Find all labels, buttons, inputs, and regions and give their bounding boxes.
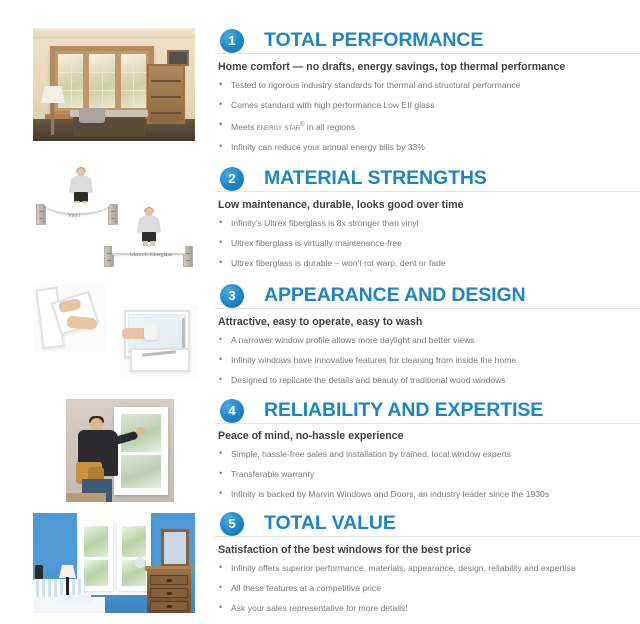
bullet-item: Infinity offers superior performance, ma… <box>215 563 640 574</box>
section-1-header: 1 TOTAL PERFORMANCE <box>215 26 640 60</box>
section-material-strengths: 2 MATERIAL STRENGTHS Low maintenance, du… <box>215 164 640 278</box>
section-1-bullet-list: Tested to rigorous industry standards fo… <box>215 80 640 153</box>
bullet-tail: in all regions <box>305 122 356 132</box>
floor-edge <box>66 493 106 502</box>
section-number-badge-1: 1 <box>220 29 244 53</box>
beam-label-vinyl: Vinyl <box>68 214 80 219</box>
wood-dresser <box>147 569 191 613</box>
section-number-badge-3: 3 <box>220 284 244 308</box>
room-ceiling <box>33 28 195 39</box>
installer-photo <box>66 399 174 502</box>
section-divider-1 <box>215 53 640 54</box>
content-column: 1 TOTAL PERFORMANCE Home comfort — no dr… <box>215 0 640 624</box>
decorative-vase <box>135 557 145 568</box>
wall-picture-frame <box>167 50 189 66</box>
beam-support-right <box>108 204 118 225</box>
energy-star-mark: ENERGY STAR <box>257 122 300 132</box>
bullet-item: Infinity is backed by Marvin Windows and… <box>215 489 640 500</box>
section-total-value: 5 TOTAL VALUE Satisfaction of the best w… <box>215 509 640 623</box>
bullet-item-energy-star: Meets ENERGY STAR® in all regions <box>215 120 640 133</box>
section-divider-2 <box>215 191 640 192</box>
bullet-lead: Meets <box>231 122 257 132</box>
bullet-item: Ultrex fiberglass is virtually maintenan… <box>215 238 640 249</box>
installer-hand <box>136 427 145 435</box>
section-divider-4 <box>215 423 640 424</box>
blue-bedroom-photo <box>33 513 195 613</box>
bullet-item: Designed to replicate the details and be… <box>215 375 640 386</box>
section-subtitle-1: Home comfort — no drafts, energy savings… <box>218 60 640 74</box>
section-title-2: MATERIAL STRENGTHS <box>264 164 487 192</box>
section-divider-5 <box>215 536 640 537</box>
section-appearance-and-design: 3 APPEARANCE AND DESIGN Attractive, easy… <box>215 281 640 395</box>
section-number-badge-5: 5 <box>220 512 244 536</box>
beam-label-ultrex: Ultrex® Fiberglass <box>130 253 172 258</box>
section-5-header: 5 TOTAL VALUE <box>215 509 640 543</box>
section-4-header: 4 RELIABILITY AND EXPERTISE <box>215 396 640 430</box>
section-number-badge-2: 2 <box>220 167 244 191</box>
nightstand <box>57 595 91 605</box>
table-lamp-base <box>66 577 69 597</box>
window-tilt-photo <box>33 284 105 352</box>
bullet-item: Comes standard with high performance Low… <box>215 100 640 111</box>
bullet-item: Infinity's Ultrex fiberglass is 8x stron… <box>215 218 640 229</box>
bullet-item: Transferable warranty <box>215 469 640 480</box>
section-subtitle-2: Low maintenance, durable, looks good ove… <box>218 198 640 212</box>
bullet-item: Simple, hassle-free sales and installati… <box>215 449 640 460</box>
section-subtitle-4: Peace of mind, no-hassle experience <box>218 429 640 443</box>
section-5-bullet-list: Infinity offers superior performance, ma… <box>215 563 640 614</box>
bullet-item: A narrower window profile allows more da… <box>215 335 640 346</box>
beam-strength-diagram: Vinyl Ultrex® Fiberglass <box>28 162 203 274</box>
lower-sash-glass <box>121 455 161 488</box>
image-column: Vinyl Ultrex® Fiberglass <box>0 0 215 624</box>
section-title-5: TOTAL VALUE <box>264 509 396 537</box>
brochure-page: Vinyl Ultrex® Fiberglass <box>0 0 640 624</box>
shelving-unit <box>147 64 185 124</box>
picture-window-frame <box>50 46 154 116</box>
window-pane-right <box>118 51 149 111</box>
bullet-item: Ask your sales representative for more d… <box>215 603 640 614</box>
section-2-bullet-list: Infinity's Ultrex fiberglass is 8x stron… <box>215 218 640 269</box>
section-number-badge-4: 4 <box>220 399 244 423</box>
living-room-window-photo <box>33 28 195 141</box>
section-title-4: RELIABILITY AND EXPERTISE <box>264 396 543 424</box>
section-total-performance: 1 TOTAL PERFORMANCE Home comfort — no dr… <box>215 26 640 162</box>
hinge-track <box>182 318 185 348</box>
section-subtitle-5: Satisfaction of the best windows for the… <box>218 543 640 557</box>
window-cleaning-photo <box>120 306 198 378</box>
bullet-item: Infinity can reduce your annual energy b… <box>215 142 640 153</box>
cleaning-cloth <box>144 324 158 340</box>
section-4-bullet-list: Simple, hassle-free sales and installati… <box>215 449 640 500</box>
dresser-mirror <box>161 529 189 567</box>
floor-lamp-shade <box>41 86 65 103</box>
double-hung-window <box>114 407 168 495</box>
bullet-item: Ultrex fiberglass is durable – won't rot… <box>215 258 640 269</box>
section-title-3: APPEARANCE AND DESIGN <box>264 281 526 309</box>
floor-lamp-stand <box>51 103 54 135</box>
window-pane-center <box>86 51 118 111</box>
bullet-item: Infinity windows have innovative feature… <box>215 355 640 366</box>
bullet-item: Tested to rigorous industry standards fo… <box>215 80 640 91</box>
section-3-header: 3 APPEARANCE AND DESIGN <box>215 281 640 315</box>
bullet-item: All these features at a competitive pric… <box>215 583 640 594</box>
section-subtitle-3: Attractive, easy to operate, easy to was… <box>218 315 640 329</box>
bench <box>73 114 145 136</box>
corner-window-right <box>117 521 151 591</box>
beam-support-left <box>36 204 46 225</box>
section-3-bullet-list: A narrower window profile allows more da… <box>215 335 640 386</box>
section-reliability-and-expertise: 4 RELIABILITY AND EXPERTISE Peace of min… <box>215 396 640 509</box>
section-2-header: 2 MATERIAL STRENGTHS <box>215 164 640 198</box>
section-divider-3 <box>215 308 640 309</box>
section-title-1: TOTAL PERFORMANCE <box>264 26 483 54</box>
